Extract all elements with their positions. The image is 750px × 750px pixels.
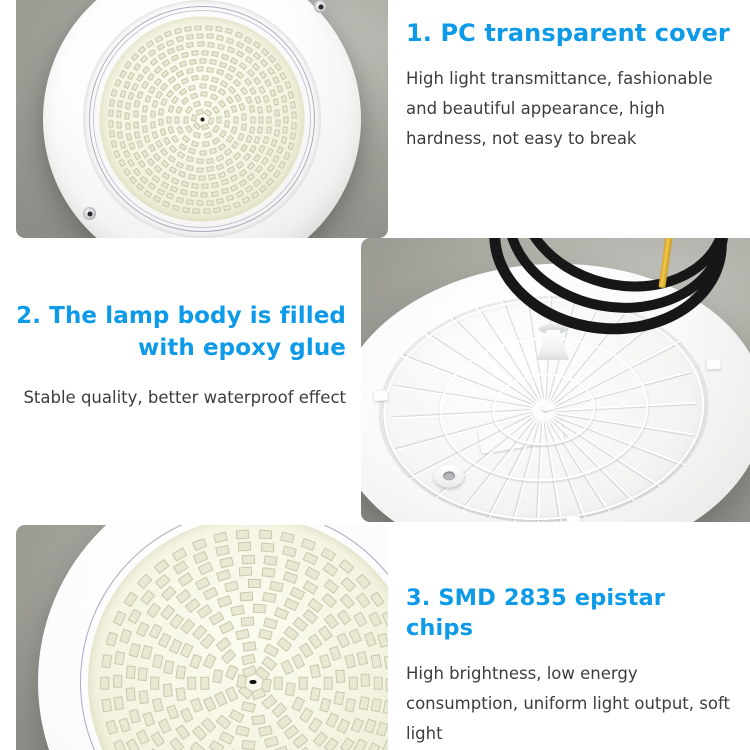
- smd-chip: [254, 136, 261, 144]
- smd-chip: [175, 687, 185, 701]
- smd-chip: [148, 49, 157, 57]
- smd-chip: [242, 740, 256, 750]
- smd-chip: [176, 106, 183, 114]
- smd-chip: [264, 737, 279, 749]
- smd-chip: [273, 169, 281, 178]
- smd-chip: [211, 137, 220, 145]
- screw-icon: [83, 207, 96, 220]
- smd-chip: [202, 141, 210, 147]
- smd-chip: [303, 580, 319, 594]
- smd-chip: [290, 101, 296, 109]
- smd-chip: [176, 126, 184, 134]
- smd-chip: [176, 161, 184, 169]
- smd-chip: [185, 125, 193, 134]
- smd-chip: [148, 182, 157, 190]
- smd-chip: [118, 718, 130, 733]
- smd-chip: [161, 98, 168, 106]
- smd-chip: [127, 71, 135, 80]
- feature-body-1: High light transmittance, fashionable an…: [406, 64, 736, 154]
- smd-chip: [186, 165, 194, 172]
- smd-chip: [287, 142, 294, 150]
- smd-chip: [171, 177, 179, 184]
- smd-chip: [176, 36, 184, 43]
- smd-chip: [199, 175, 206, 180]
- smd-chip: [324, 677, 333, 690]
- smd-chip: [241, 702, 256, 713]
- smd-chip: [167, 105, 174, 113]
- smd-chip: [118, 159, 126, 168]
- smd-chip: [169, 145, 177, 153]
- smd-chip: [271, 139, 278, 147]
- smd-chip: [116, 121, 121, 128]
- smd-chip: [101, 677, 110, 690]
- smd-chip: [275, 109, 281, 116]
- smd-chip: [279, 161, 287, 170]
- smd-chip: [308, 633, 322, 649]
- smd-chip: [283, 571, 298, 583]
- smd-chip: [180, 189, 188, 196]
- smd-chip: [145, 168, 153, 176]
- smd-chip: [140, 55, 149, 63]
- smd-chip: [190, 191, 198, 197]
- smd-chip: [366, 742, 380, 750]
- smd-chip: [200, 634, 215, 649]
- smd-chip: [177, 151, 186, 159]
- smd-chip: [201, 50, 208, 55]
- smd-chip: [231, 105, 238, 113]
- smd-chip: [225, 73, 234, 81]
- smd-chip: [196, 67, 203, 72]
- smd-chip: [129, 176, 137, 185]
- smd-chip: [150, 111, 156, 118]
- smd-chip: [190, 698, 203, 713]
- smd-chip: [253, 604, 267, 613]
- smd-chip: [188, 677, 197, 690]
- smd-chip: [230, 184, 238, 191]
- smd-chip: [224, 148, 233, 156]
- smd-chip: [206, 158, 214, 164]
- smd-chip: [277, 85, 284, 93]
- smd-chip: [161, 70, 170, 78]
- led-center-dot: [250, 680, 257, 684]
- smd-chip: [135, 729, 148, 744]
- smd-chip: [340, 576, 355, 591]
- smd-chip: [186, 199, 194, 205]
- smd-chip: [216, 570, 231, 582]
- smd-chip: [193, 100, 201, 107]
- smd-chip: [266, 105, 272, 113]
- feature-heading-2-line2: with epoxy glue: [138, 335, 346, 361]
- smd-chip: [201, 184, 208, 189]
- smd-chip: [253, 52, 262, 60]
- smd-chip: [186, 156, 194, 163]
- smd-chip: [345, 698, 356, 713]
- smd-chip: [236, 160, 245, 168]
- smd-chip: [167, 48, 175, 55]
- smd-chip: [382, 740, 388, 750]
- smd-chip: [349, 677, 358, 690]
- smd-chip: [265, 79, 273, 88]
- smd-chip: [214, 532, 229, 543]
- smd-chip: [190, 92, 198, 99]
- smd-chip: [188, 174, 196, 180]
- smd-chip: [217, 116, 222, 123]
- smd-chip: [155, 91, 163, 100]
- smd-chip: [237, 132, 244, 140]
- smd-chip: [196, 108, 204, 115]
- smd-chip: [258, 530, 272, 539]
- smd-chip: [179, 88, 188, 96]
- smd-chip: [244, 36, 253, 44]
- smd-chip: [151, 100, 158, 108]
- smd-chip: [186, 68, 194, 75]
- smd-chip: [233, 152, 242, 160]
- smd-chip: [124, 591, 138, 607]
- smd-chip: [155, 35, 164, 43]
- feature-heading-3: 3. SMD 2835 epistar chips: [406, 583, 736, 643]
- smd-chip: [206, 200, 213, 206]
- smd-chip: [142, 65, 150, 74]
- smd-chip: [196, 159, 203, 164]
- smd-chip: [150, 121, 156, 128]
- smd-chip: [383, 700, 388, 714]
- smd-chip: [199, 58, 206, 63]
- smd-chip: [221, 179, 229, 186]
- feature-heading-1: 1. PC transparent cover: [406, 18, 736, 48]
- smd-chip: [209, 59, 217, 65]
- smd-chip: [249, 86, 257, 95]
- smd-chip: [356, 593, 371, 608]
- smd-chip: [220, 188, 228, 195]
- smd-chip: [208, 117, 214, 125]
- smd-chip: [218, 171, 226, 178]
- smd-chip: [144, 190, 153, 198]
- smd-chip: [247, 172, 256, 180]
- smd-chip: [269, 580, 284, 591]
- smd-chip: [215, 26, 223, 32]
- smd-chip: [258, 629, 273, 640]
- smd-chip: [180, 708, 193, 723]
- smd-chip: [197, 42, 204, 47]
- smd-chip: [305, 567, 320, 581]
- housing-clip: [706, 359, 721, 370]
- smd-chip: [364, 632, 377, 647]
- smd-chip: [321, 547, 337, 561]
- smd-chip: [283, 598, 298, 611]
- smd-chip: [109, 99, 115, 107]
- smd-chip: [134, 131, 140, 139]
- smd-chip: [280, 72, 288, 81]
- smd-chip: [125, 113, 130, 120]
- smd-chip: [241, 123, 247, 131]
- smd-chip: [119, 141, 126, 149]
- smd-chip: [236, 41, 244, 49]
- smd-chip: [167, 155, 176, 163]
- smd-chip: [174, 28, 182, 35]
- smd-chip: [211, 182, 219, 188]
- smd-chip: [158, 632, 171, 647]
- smd-chip: [251, 191, 260, 199]
- smd-chip: [337, 609, 352, 625]
- led-face: [100, 17, 305, 222]
- smd-chip: [140, 175, 149, 183]
- smd-chip: [244, 56, 253, 64]
- smd-chip: [181, 52, 189, 59]
- smd-chip: [319, 698, 331, 713]
- smd-chip: [239, 62, 248, 70]
- smd-chip: [221, 53, 229, 60]
- smd-chip: [277, 146, 284, 154]
- smd-chip: [111, 140, 118, 148]
- smd-chip: [125, 687, 135, 701]
- smd-chip: [148, 623, 162, 638]
- smd-chip: [255, 165, 263, 174]
- smd-chip: [193, 208, 200, 213]
- smd-chip: [147, 73, 155, 82]
- smd-chip: [277, 637, 292, 652]
- smd-chip: [167, 76, 176, 84]
- lamp-front-closeup: [38, 525, 388, 750]
- smd-chip: [204, 109, 213, 117]
- smd-chip: [281, 659, 294, 674]
- smd-chip: [284, 81, 291, 89]
- smd-chip: [108, 110, 113, 117]
- smd-chip: [230, 174, 239, 182]
- smd-chip: [123, 150, 130, 158]
- smd-chip: [201, 192, 208, 197]
- smd-chip: [283, 105, 289, 113]
- smd-chip: [259, 185, 268, 193]
- smd-chip: [275, 677, 284, 690]
- product-feature-infographic: 1. PC transparent cover High light trans…: [0, 0, 750, 750]
- smd-chip: [138, 46, 147, 54]
- smd-chip: [234, 31, 242, 38]
- smd-chip: [146, 40, 155, 48]
- smd-chip: [138, 667, 147, 681]
- smd-chip: [136, 73, 144, 82]
- smd-chip: [216, 163, 224, 170]
- smd-chip: [127, 159, 135, 168]
- smd-chip: [252, 41, 261, 49]
- smd-chip: [269, 88, 276, 96]
- smd-chip: [216, 35, 224, 41]
- smd-chip: [322, 593, 337, 608]
- smd-chip: [259, 70, 267, 79]
- smd-chip: [253, 154, 261, 163]
- led-center-dot: [200, 117, 204, 121]
- smd-chip: [245, 96, 252, 104]
- smd-chip: [263, 95, 270, 103]
- smd-chip: [178, 171, 186, 178]
- smd-chip: [204, 132, 212, 139]
- product-photo-epoxy-body: [361, 238, 750, 522]
- smd-chip: [267, 67, 275, 76]
- smd-chip: [191, 75, 199, 81]
- smd-chip: [170, 186, 178, 193]
- screw-icon: [314, 0, 327, 13]
- smd-chip: [151, 654, 162, 669]
- smd-chip: [274, 63, 282, 72]
- smd-chip: [114, 79, 121, 87]
- smd-chip: [106, 632, 118, 647]
- smd-chip: [251, 688, 266, 700]
- smd-chip: [310, 687, 321, 701]
- feature-text-3: 3. SMD 2835 epistar chips High brightnes…: [406, 583, 736, 749]
- smd-chip: [319, 654, 331, 669]
- smd-chip: [254, 96, 261, 104]
- smd-chip: [246, 69, 254, 78]
- smd-chip: [154, 165, 163, 173]
- smd-chip: [172, 547, 188, 561]
- smd-chip: [179, 61, 187, 68]
- smd-chip: [142, 125, 148, 133]
- smd-chip: [215, 544, 230, 555]
- smd-chip: [153, 153, 161, 162]
- smd-chip: [280, 136, 287, 144]
- smd-chip: [260, 172, 268, 181]
- smd-chip: [264, 555, 278, 565]
- smd-chip: [218, 88, 227, 96]
- smd-chip: [119, 70, 127, 79]
- smd-chip: [272, 155, 280, 164]
- smd-chip: [219, 556, 234, 567]
- smd-chip: [117, 131, 123, 139]
- smd-chip: [219, 129, 227, 138]
- smd-chip: [190, 742, 205, 750]
- smd-chip: [136, 183, 145, 191]
- smd-chip: [169, 166, 178, 174]
- smd-chip: [117, 100, 123, 108]
- smd-chip: [186, 34, 194, 40]
- smd-chip: [158, 718, 171, 733]
- smd-chip: [280, 532, 295, 543]
- smd-chip: [249, 145, 257, 154]
- smd-chip: [211, 76, 219, 83]
- smd-chip: [273, 98, 279, 106]
- smd-chip: [123, 168, 131, 177]
- smd-chip: [203, 654, 216, 669]
- smd-chip: [176, 71, 184, 79]
- smd-chip: [238, 542, 252, 551]
- smd-chip: [200, 677, 209, 690]
- smd-chip: [227, 46, 235, 53]
- smd-chip: [223, 205, 231, 212]
- smd-chip: [288, 91, 295, 99]
- smd-chip: [192, 538, 207, 551]
- smd-chip: [246, 162, 254, 171]
- smd-chip: [236, 629, 251, 640]
- smd-chip: [291, 122, 296, 129]
- smd-chip: [260, 59, 268, 68]
- housing-clip: [566, 517, 581, 522]
- smd-chip: [187, 42, 195, 48]
- smd-chip: [274, 607, 289, 620]
- smd-chip: [225, 28, 233, 35]
- smd-chip: [233, 116, 238, 123]
- smd-chip: [349, 629, 362, 644]
- smd-chip: [241, 113, 246, 120]
- feature-text-1: 1. PC transparent cover High light trans…: [406, 18, 736, 154]
- smd-chip: [191, 183, 199, 189]
- smd-chip: [183, 116, 188, 123]
- smd-chip: [113, 674, 122, 687]
- smd-chip: [239, 567, 253, 576]
- smd-chip: [171, 135, 179, 144]
- smd-chip: [196, 33, 203, 38]
- smd-chip: [292, 654, 305, 669]
- smd-chip: [204, 100, 212, 107]
- smd-chip: [272, 76, 280, 85]
- smd-chip: [138, 690, 148, 704]
- smd-chip: [154, 77, 162, 86]
- smd-chip: [253, 77, 261, 86]
- smd-chip: [225, 158, 234, 166]
- smd-chip: [303, 552, 318, 565]
- smd-chip: [179, 142, 188, 150]
- smd-chip: [324, 737, 339, 750]
- smd-chip: [137, 90, 144, 98]
- smd-chip: [191, 50, 199, 56]
- smd-chip: [196, 167, 203, 172]
- smd-chip: [101, 654, 111, 668]
- smd-chip: [131, 82, 139, 90]
- smd-chip: [339, 559, 354, 574]
- smd-chip: [142, 711, 154, 726]
- smd-chip: [185, 105, 193, 114]
- smd-chip: [158, 118, 163, 125]
- smd-chip: [166, 705, 178, 720]
- smd-chip: [231, 141, 239, 150]
- smd-chip: [147, 158, 155, 167]
- smd-chip: [215, 154, 223, 161]
- smd-chip: [129, 142, 136, 150]
- smd-chip: [259, 86, 267, 94]
- smd-chip: [146, 602, 161, 618]
- smd-chip: [211, 191, 219, 197]
- smd-chip: [337, 718, 350, 733]
- smd-chip: [144, 135, 151, 143]
- smd-chip: [301, 538, 316, 551]
- smd-chip: [137, 140, 144, 148]
- smd-chip: [111, 89, 118, 97]
- smd-chip: [285, 683, 296, 697]
- smd-chip: [119, 629, 131, 644]
- smd-chip: [267, 116, 272, 123]
- smd-chip: [245, 135, 252, 143]
- smd-chip: [113, 611, 126, 626]
- smd-chip: [190, 653, 203, 668]
- smd-chip: [242, 554, 255, 563]
- smd-chip: [226, 195, 234, 202]
- smd-chip: [211, 51, 219, 57]
- smd-chip: [213, 207, 221, 213]
- smd-chip: [232, 201, 240, 208]
- smd-chip: [195, 25, 202, 30]
- smd-chip: [384, 655, 388, 669]
- smd-chip: [239, 103, 246, 111]
- smd-chip: [123, 80, 130, 88]
- smd-chip: [231, 126, 238, 134]
- smd-chip: [114, 696, 124, 710]
- smd-chip: [193, 122, 202, 130]
- smd-chip: [224, 110, 231, 118]
- smd-chip: [108, 120, 113, 127]
- smd-chip: [292, 112, 297, 119]
- smd-chip: [210, 94, 219, 102]
- smd-chip: [248, 105, 254, 113]
- smd-chip: [282, 545, 297, 557]
- smd-chip: [266, 177, 274, 186]
